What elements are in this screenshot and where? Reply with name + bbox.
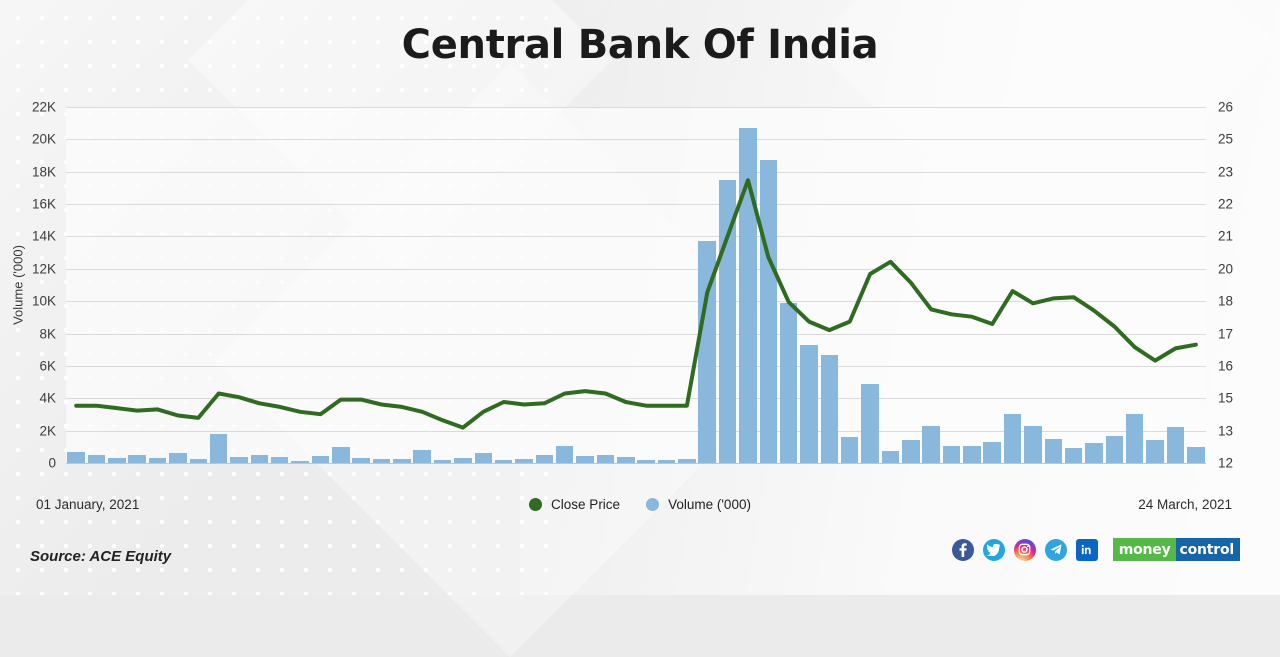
instagram-icon[interactable] [1014,539,1036,561]
legend-dot-icon [646,498,659,511]
left-axis-tick: 20K [8,132,56,147]
legend-item-close-price[interactable]: Close Price [529,497,620,512]
right-axis-tick: 20 [1218,261,1260,276]
left-axis-tick: 22K [8,100,56,115]
left-axis-tick: 0 [8,456,56,471]
left-axis-tick: 2K [8,423,56,438]
moneycontrol-logo-control: control [1176,538,1241,561]
left-axis-tick: 8K [8,326,56,341]
right-axis-tick: 15 [1218,391,1260,406]
legend-label: Close Price [551,497,620,512]
right-axis-tick: 13 [1218,423,1260,438]
right-axis-tick: 17 [1218,326,1260,341]
left-axis-tick: 16K [8,197,56,212]
right-axis-tick: 26 [1218,100,1260,115]
right-axis-tick: 21 [1218,229,1260,244]
close-price-line [66,107,1206,463]
right-axis-tick: 18 [1218,294,1260,309]
chart-plot-area: 22K20K18K16K14K12K10K8K6K4K2K0 262523222… [66,107,1206,463]
facebook-icon[interactable] [952,539,974,561]
left-axis-tick: 4K [8,391,56,406]
right-axis-tick: 22 [1218,197,1260,212]
right-axis-tick: 16 [1218,358,1260,373]
moneycontrol-logo[interactable]: money control [1113,538,1240,561]
right-axis-tick: 25 [1218,132,1260,147]
left-axis-tick: 6K [8,358,56,373]
linkedin-icon[interactable] [1076,539,1098,561]
twitter-icon[interactable] [983,539,1005,561]
telegram-icon[interactable] [1045,539,1067,561]
right-axis-tick: 23 [1218,164,1260,179]
social-links: money control [952,538,1240,561]
axis-baseline [66,463,1206,464]
page-title: Central Bank Of India [0,22,1280,68]
legend-item-volume[interactable]: Volume ('000) [646,497,751,512]
legend-dot-icon [529,498,542,511]
left-axis-title: Volume ('000) [10,245,25,325]
left-axis-tick: 14K [8,229,56,244]
left-axis-tick: 18K [8,164,56,179]
legend-label: Volume ('000) [668,497,751,512]
source-attribution: Source: ACE Equity [30,548,171,565]
right-axis-tick: 12 [1218,456,1260,471]
moneycontrol-logo-money: money [1113,538,1176,561]
chart-legend: Close Price Volume ('000) [0,497,1280,512]
